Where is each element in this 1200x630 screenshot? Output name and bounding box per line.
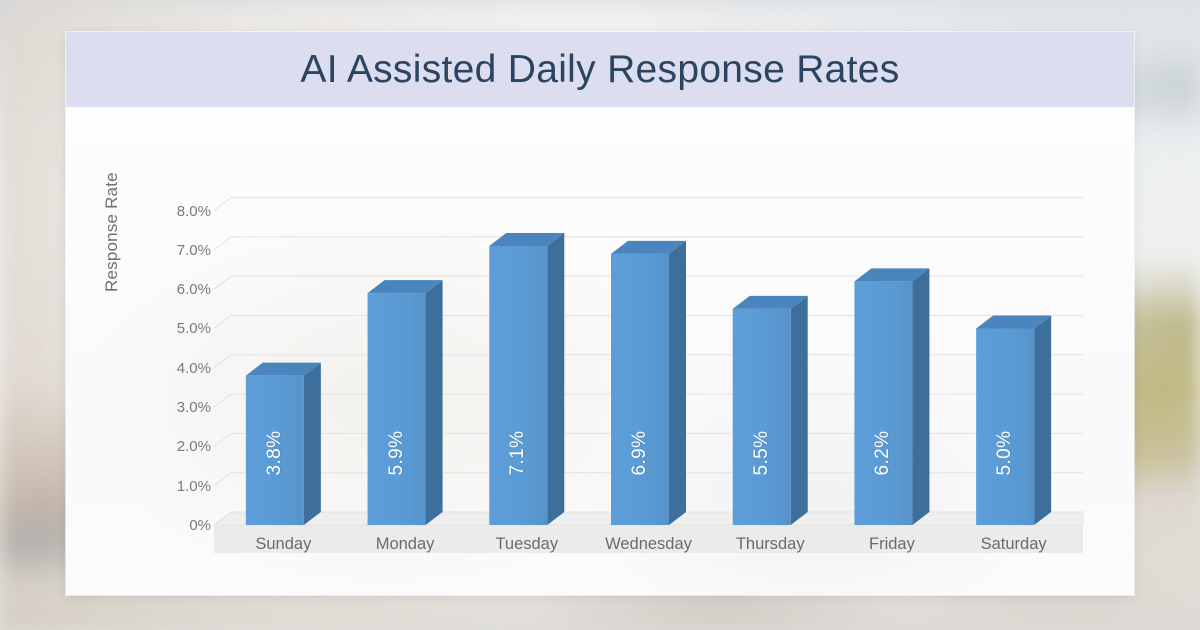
chart-card: AI Assisted Daily Response Rates Respons…	[66, 32, 1134, 595]
x-axis-category-label: Wednesday	[605, 535, 692, 554]
bar-front-face	[854, 281, 912, 525]
bar-column	[368, 280, 443, 525]
screenshot-canvas: AI Assisted Daily Response Rates Respons…	[0, 0, 1200, 630]
bar-side-face	[1034, 315, 1051, 525]
bar-value-label: 5.5%	[751, 431, 773, 476]
bar-column	[976, 315, 1051, 525]
bar-side-face	[791, 296, 808, 525]
gridline	[214, 198, 1083, 211]
bar-front-face	[733, 309, 791, 525]
bar-column	[733, 296, 808, 525]
x-axis-category-labels: SundayMondayTuesdayWednesdayThursdayFrid…	[66, 535, 1134, 557]
x-axis-category-label: Tuesday	[495, 535, 558, 554]
x-axis-category-label: Thursday	[736, 535, 805, 554]
bar-side-face	[547, 233, 564, 525]
x-axis-category-label: Sunday	[255, 535, 311, 554]
chart-title-bar: AI Assisted Daily Response Rates	[66, 32, 1134, 107]
bar-front-face	[611, 254, 669, 525]
x-axis-category-label: Saturday	[981, 535, 1047, 554]
bar-front-face	[976, 328, 1034, 525]
bar-front-face	[368, 293, 426, 525]
bar-side-face	[304, 363, 321, 525]
bar-side-face	[912, 268, 929, 525]
bar-value-label: 3.8%	[264, 431, 286, 476]
bar-front-face	[489, 246, 547, 525]
chart-plot-area: Response Rate 0%1.0%2.0%3.0%4.0%5.0%6.0%…	[66, 107, 1134, 595]
bar-value-label: 6.9%	[629, 431, 651, 476]
bar-value-label: 7.1%	[507, 431, 529, 476]
x-axis-category-label: Monday	[376, 535, 435, 554]
bar-column	[611, 241, 686, 525]
bar-value-label: 5.9%	[386, 431, 408, 476]
bar-side-face	[426, 280, 443, 525]
bar-chart-graphic	[66, 107, 1134, 595]
bar-value-label: 6.2%	[872, 431, 894, 476]
page-title: AI Assisted Daily Response Rates	[300, 48, 899, 92]
bar-column	[854, 268, 929, 525]
bar-value-label: 5.0%	[994, 431, 1016, 476]
bar-side-face	[669, 241, 686, 525]
x-axis-category-label: Friday	[869, 535, 915, 554]
bar-column	[489, 233, 564, 525]
